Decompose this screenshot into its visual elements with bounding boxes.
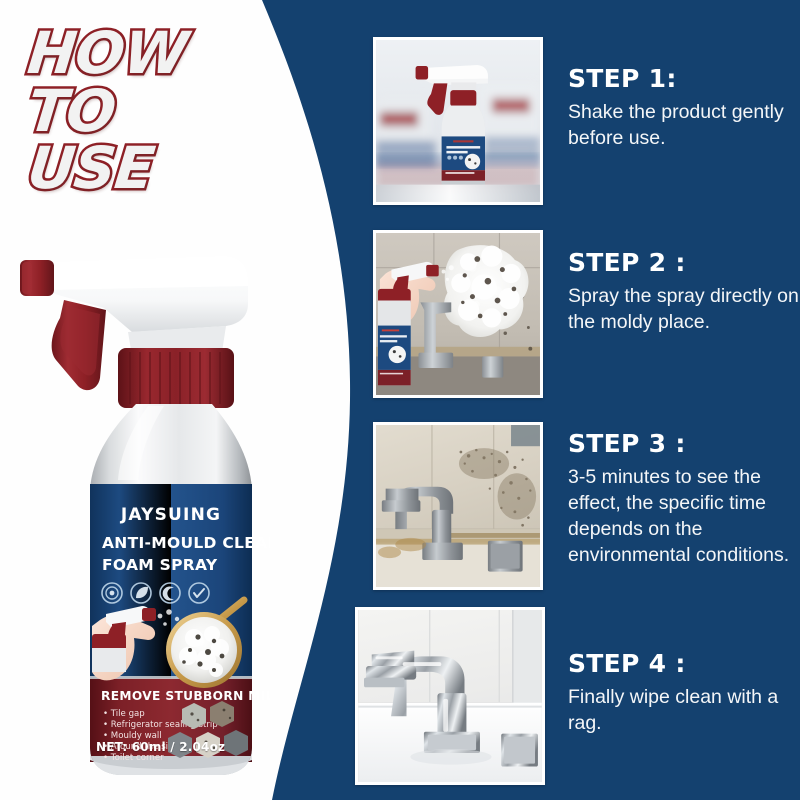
bottle-product-line2: FOAM SPRAY <box>102 556 218 574</box>
step-2-text: STEP 2 : Spray the spray directly on the… <box>568 230 800 336</box>
bottle-brand: JAYSUING <box>120 505 221 525</box>
step-1-photo <box>373 37 543 205</box>
bottle-product-line1: ANTI-MOULD CLEANING <box>102 534 270 552</box>
step-4-title: STEP 4 : <box>568 649 800 678</box>
infographic-canvas: HOW TO USE <box>0 0 800 800</box>
step-4-body: Finally wipe clean with a rag. <box>568 685 800 737</box>
step-1-text: STEP 1: Shake the product gently before … <box>568 37 800 152</box>
sprayer-head <box>20 256 248 408</box>
step-2-title: STEP 2 : <box>568 248 800 277</box>
svg-text:• Tile gap: • Tile gap <box>103 709 145 719</box>
headline-line-1: HOW <box>25 26 190 82</box>
step-4: STEP 4 : Finally wipe clean with a rag. <box>355 607 800 785</box>
product-bottle: JAYSUING ANTI-MOULD CLEANING FOAM SPRAY <box>8 248 270 788</box>
headline-line-2: TO <box>25 84 190 140</box>
step-1: STEP 1: Shake the product gently before … <box>373 37 800 205</box>
step-1-body: Shake the product gently before use. <box>568 100 800 152</box>
headline-line-3: USE <box>25 141 190 197</box>
bottle-body: JAYSUING ANTI-MOULD CLEANING FOAM SPRAY <box>90 404 270 775</box>
step-4-photo <box>355 607 545 785</box>
step-4-text: STEP 4 : Finally wipe clean with a rag. <box>568 607 800 737</box>
step-3-text: STEP 3 : 3-5 minutes to see the effect, … <box>568 422 800 569</box>
bottle-tagline: REMOVE STUBBORN MILDEW STAINS <box>101 689 270 703</box>
step-2: STEP 2 : Spray the spray directly on the… <box>373 230 800 398</box>
step-3: STEP 3 : 3-5 minutes to see the effect, … <box>373 422 800 590</box>
step-2-photo <box>373 230 543 398</box>
step-1-title: STEP 1: <box>568 64 800 93</box>
step-3-title: STEP 3 : <box>568 429 800 458</box>
svg-text:• Toilet corner: • Toilet corner <box>103 753 164 763</box>
bottle-net-content-label: NET: 60ml / 2.04oz <box>96 740 225 754</box>
step-2-body: Spray the spray directly on the moldy pl… <box>568 284 800 336</box>
step-3-photo <box>373 422 543 590</box>
step-3-body: 3-5 minutes to see the effect, the speci… <box>568 465 800 569</box>
page-title: HOW TO USE <box>28 26 187 197</box>
